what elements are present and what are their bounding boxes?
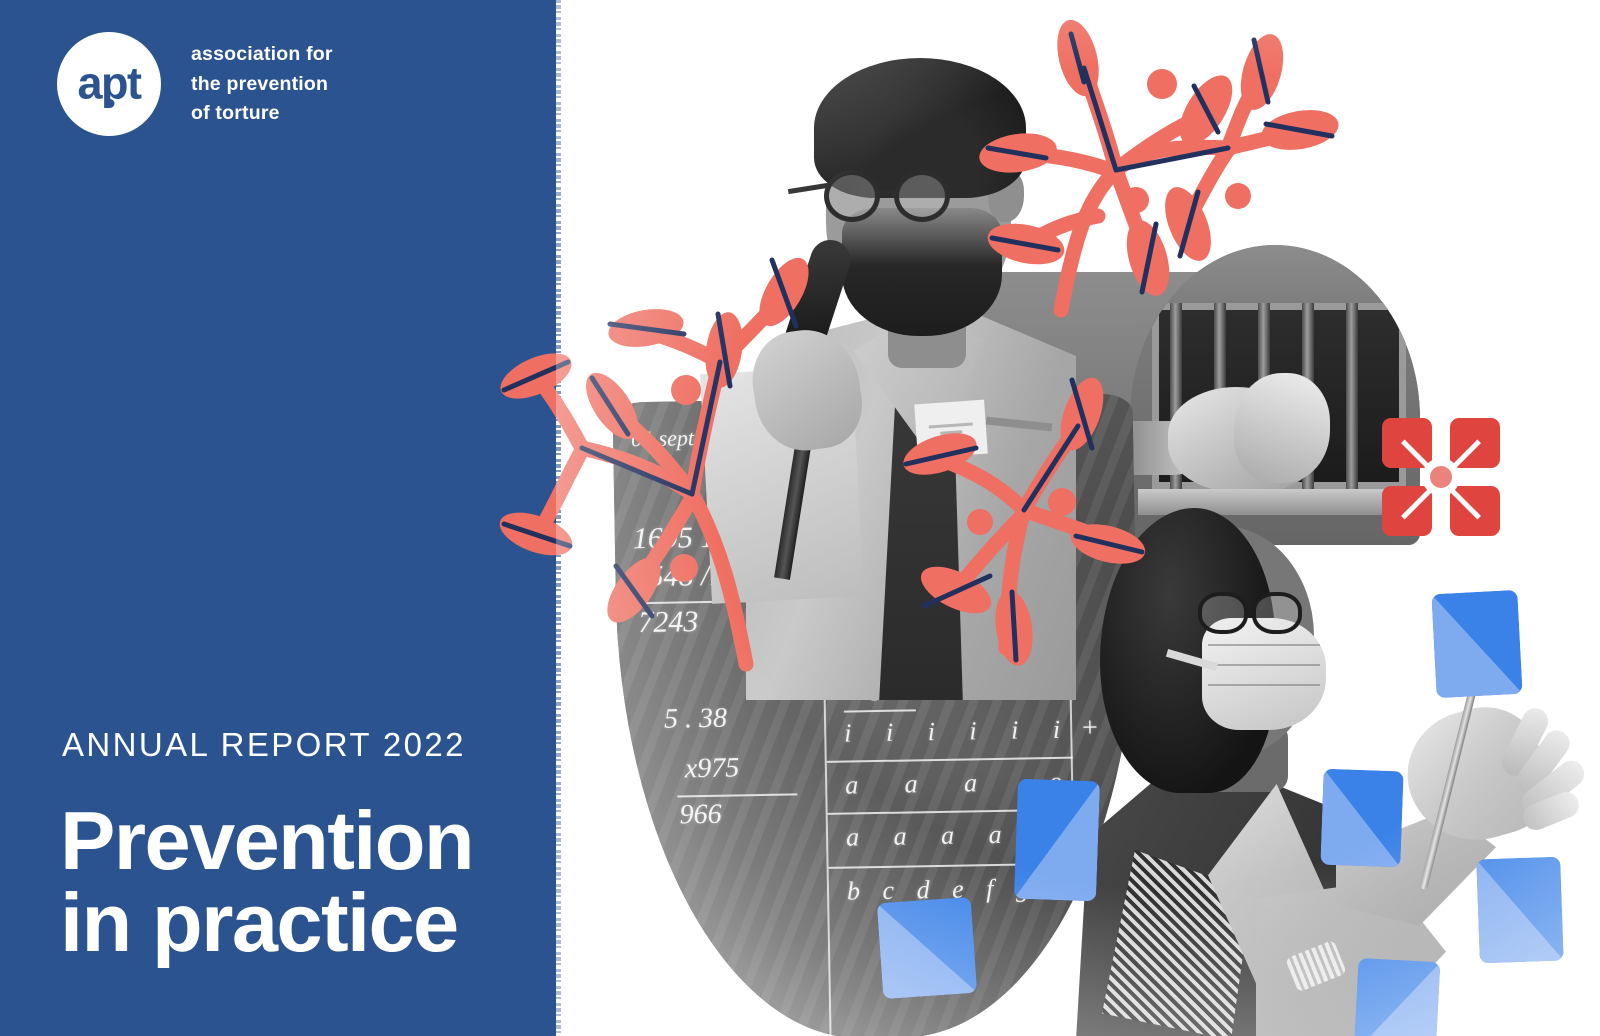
flower-center [1422, 458, 1460, 496]
eyeglass-temple [788, 183, 828, 194]
eyeglass-lens-right [894, 170, 950, 222]
eyeglass-lens-left [824, 170, 880, 222]
page-title: Prevention in practice [60, 800, 473, 964]
page-title-line-1: Prevention [60, 800, 473, 882]
hand-upper [1234, 373, 1330, 483]
blue-diamond-bottom-right [1354, 958, 1441, 1036]
red-four-petal-flower [1382, 418, 1500, 536]
blue-diamond-lower-right [1476, 857, 1564, 964]
tagline-line-1: association for [191, 40, 333, 70]
logo-tagline: association for the prevention of tortur… [191, 32, 333, 129]
blue-diamond-mid-right [1320, 769, 1403, 868]
coral-botanical-branch-left [496, 250, 826, 670]
report-kicker: ANNUAL REPORT 2022 [62, 726, 466, 764]
blackboard-copy-row-1: i i i i i i [844, 715, 1074, 749]
blackboard-row-extra-2: x975 [685, 752, 740, 785]
coral-botanical-branch-center [886, 330, 1146, 650]
logo-exclamation-dot [105, 99, 114, 108]
eyeglass-lens-right [1252, 592, 1302, 634]
blackboard-row-extra-3: 966 [679, 799, 722, 832]
blackboard-row-extra-1: 5 . 38 [664, 703, 728, 736]
blackboard-copy-row-2: a a a [845, 768, 998, 801]
blue-diamond-on-shoulder [1014, 779, 1100, 902]
eyeglass-lens-left [1198, 592, 1248, 634]
coral-botanical-branch-right [966, 20, 1306, 310]
apt-logo: apt association for the prevention of to… [57, 32, 333, 136]
tagline-line-2: the prevention [191, 70, 333, 100]
cover-photo-collage: 01 septembre 2022 1695 10 9548 /10 7243 … [556, 0, 1600, 1036]
logo-circle-mark: apt [57, 32, 161, 136]
blue-diamond-upper-right [1431, 590, 1522, 698]
tagline-line-3: of torture [191, 99, 333, 129]
eyeglass-bridge [879, 190, 897, 195]
eyeglass-bridge [1246, 608, 1256, 612]
page-title-line-2: in practice [60, 882, 473, 964]
annual-report-cover: apt association for the prevention of to… [0, 0, 1600, 1036]
blue-diamond-on-blackboard [877, 897, 977, 999]
surgical-face-mask [1202, 618, 1326, 730]
